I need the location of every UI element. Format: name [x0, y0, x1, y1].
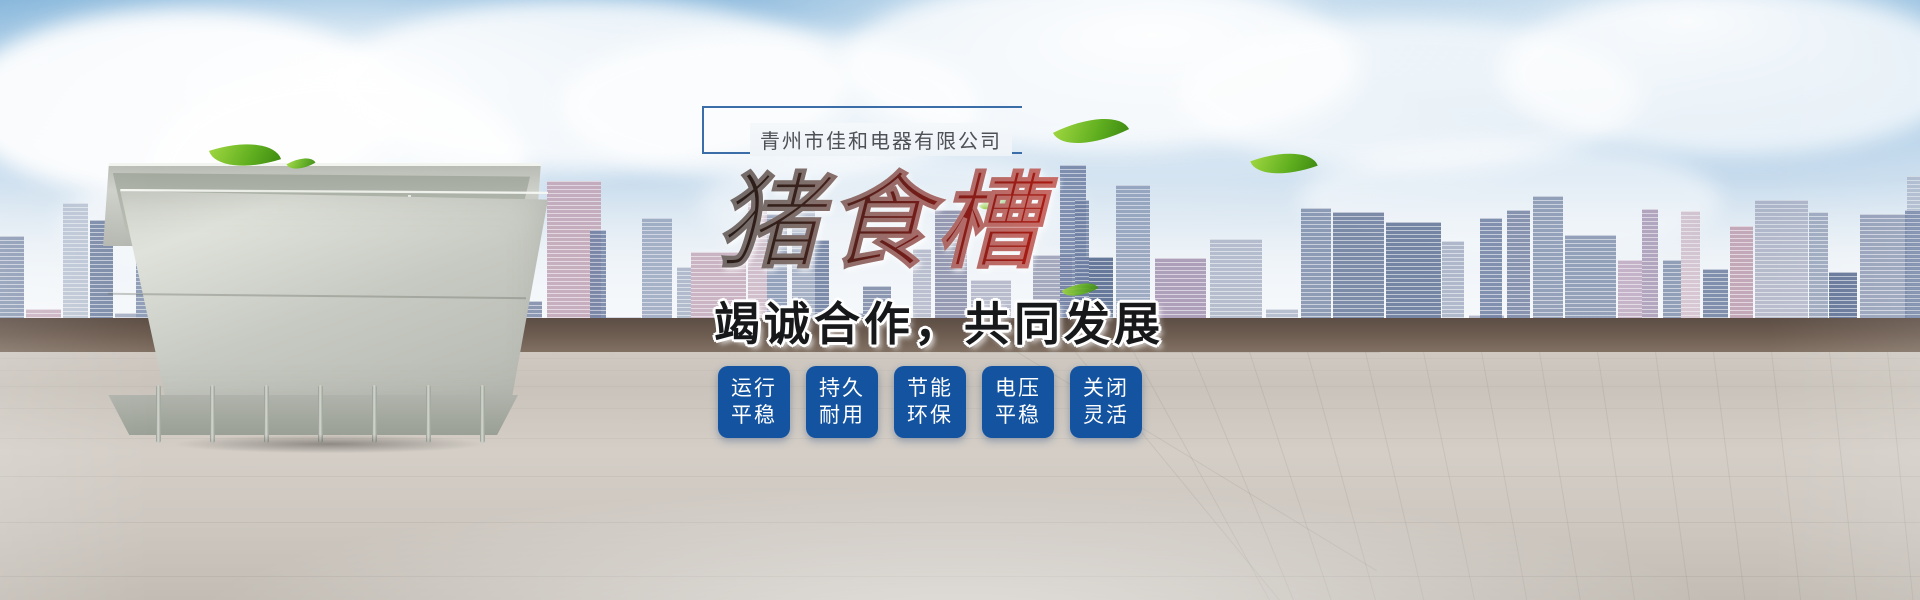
feature-badge-line1: 运行 — [731, 375, 777, 402]
feature-badge-5[interactable]: 关闭灵活 — [1070, 366, 1142, 438]
feature-badge-line1: 关闭 — [1083, 375, 1129, 402]
company-frame-dash — [702, 152, 750, 154]
feature-badge-line2: 平稳 — [995, 402, 1041, 429]
subtitle-slogan: 竭诚合作，共同发展 — [714, 288, 1164, 354]
feature-badge-line1: 节能 — [907, 375, 953, 402]
feature-badge-line1: 电压 — [995, 375, 1041, 402]
feature-badge-line2: 环保 — [907, 402, 953, 429]
feature-badge-3[interactable]: 节能环保 — [894, 366, 966, 438]
feature-badge-line2: 灵活 — [1083, 402, 1129, 429]
pig-feeder-product-image — [78, 163, 548, 463]
feature-badge-2[interactable]: 持久耐用 — [806, 366, 878, 438]
feature-badge-list: 运行平稳持久耐用节能环保电压平稳关闭灵活 — [718, 366, 1142, 438]
feeder-base-trough — [100, 395, 518, 435]
product-promo-banner: 青州市佳和电器有限公司 猪食槽 竭诚合作，共同发展 运行平稳持久耐用节能环保电压… — [0, 0, 1920, 600]
feature-badge-line2: 耐用 — [819, 402, 865, 429]
company-name: 青州市佳和电器有限公司 — [750, 123, 1012, 156]
feature-badge-line2: 平稳 — [731, 402, 777, 429]
product-ground-shadow — [114, 431, 544, 457]
main-title-wrap: 猪食槽 — [716, 166, 1276, 288]
feature-badge-line1: 持久 — [819, 375, 865, 402]
page-title: 猪食槽 — [716, 166, 1276, 278]
feature-badge-4[interactable]: 电压平稳 — [982, 366, 1054, 438]
feature-badge-1[interactable]: 运行平稳 — [718, 366, 790, 438]
